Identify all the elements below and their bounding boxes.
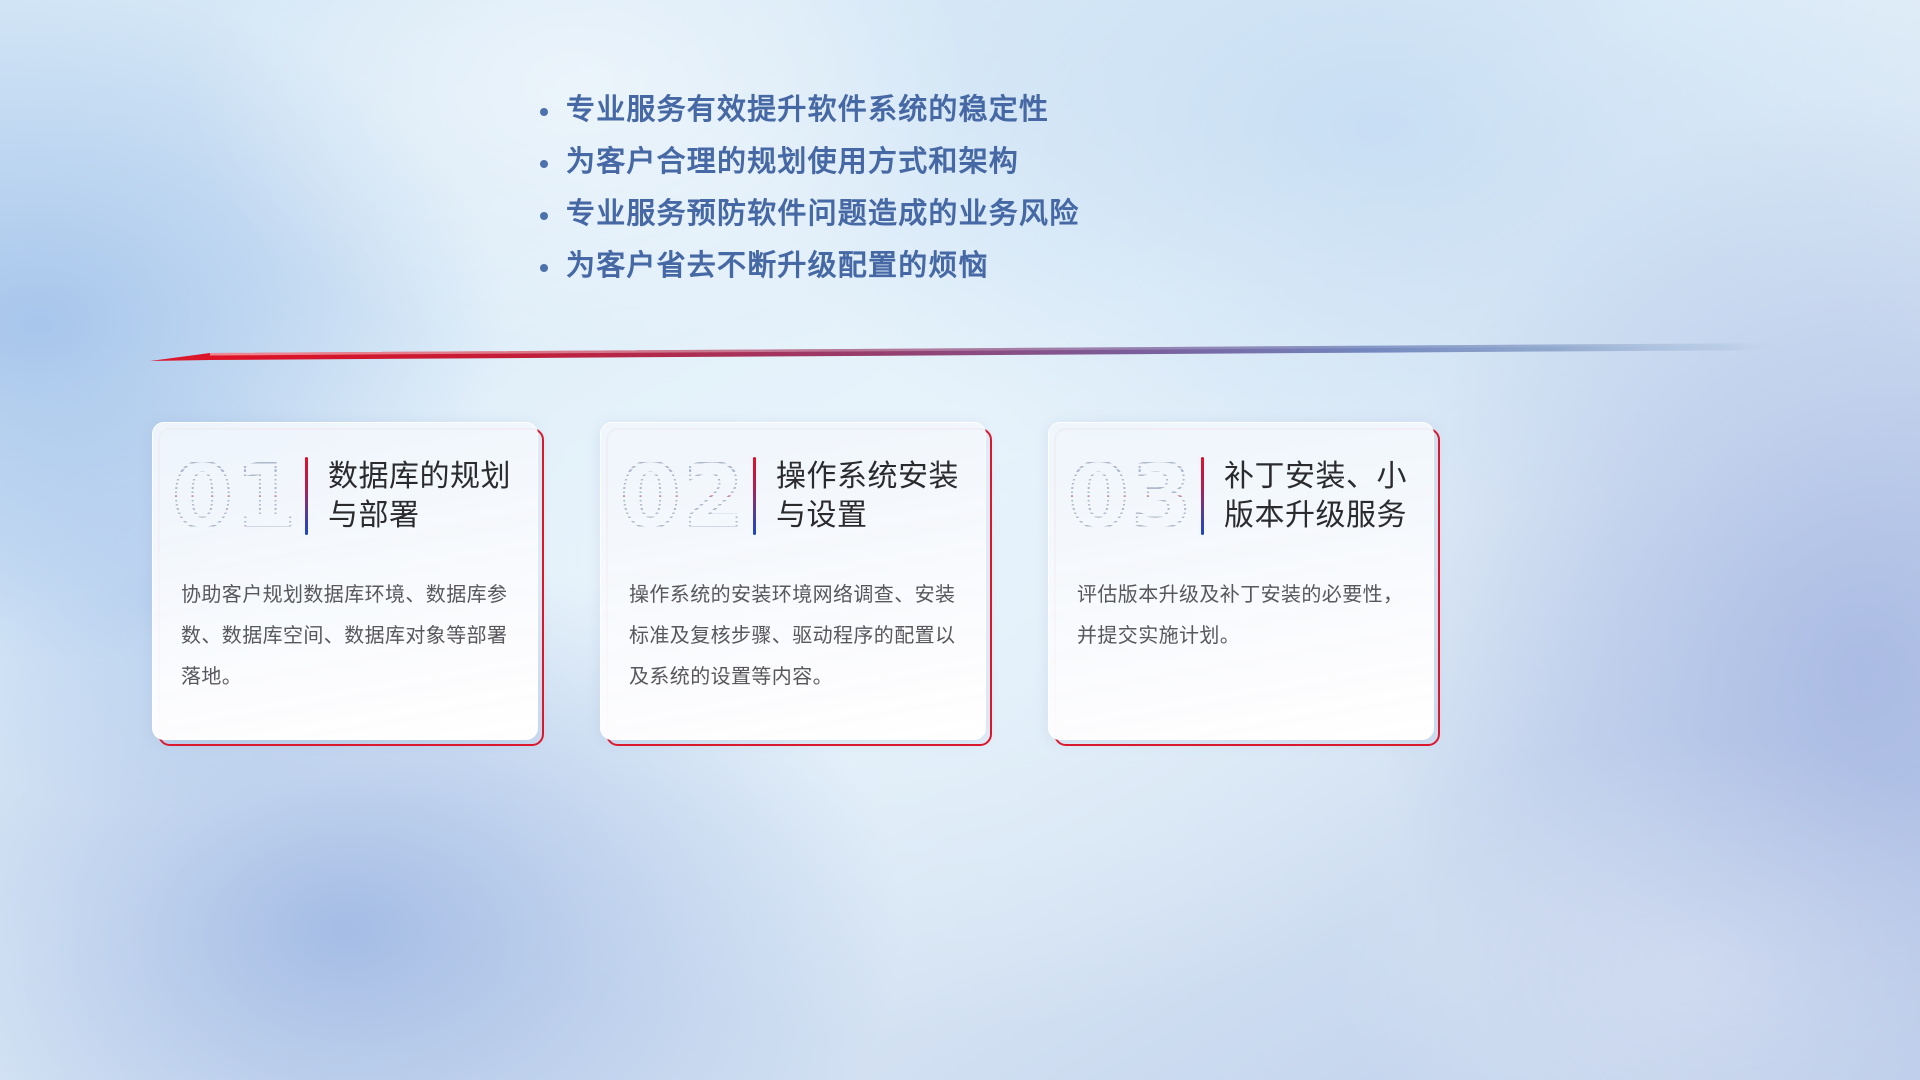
card-number-watermark: 03 03 03 — [1063, 441, 1199, 551]
card-title: 操作系统安装与设置 — [776, 457, 986, 535]
bullet-dot-icon — [540, 97, 566, 121]
card-accent-bar — [1201, 457, 1204, 535]
bullet-dot-icon — [540, 149, 566, 173]
bullet-text: 专业服务有效提升软件系统的稳定性 — [566, 86, 1049, 128]
list-item: 为客户省去不断升级配置的烦恼 — [540, 242, 1079, 294]
service-card-row: 01 01 01 数据库的规划与部署 协助客户规划数据库环境、数据库参数、数据库… — [152, 422, 1434, 740]
card-number-blue-stripes: 02 — [615, 441, 751, 551]
list-item: 专业服务预防软件问题造成的业务风险 — [540, 190, 1079, 242]
card-accent-bar — [305, 457, 308, 535]
card-number-watermark: 02 02 02 — [615, 441, 751, 551]
card-number-blue-stripes: 01 — [167, 441, 303, 551]
slide-canvas: 专业服务有效提升软件系统的稳定性 为客户合理的规划使用方式和架构 专业服务预防软… — [0, 0, 1920, 1080]
card-panel: 03 03 03 补丁安装、小版本升级服务 评估版本升级及补丁安装的必要性，并提… — [1048, 422, 1434, 740]
card-panel: 01 01 01 数据库的规划与部署 协助客户规划数据库环境、数据库参数、数据库… — [152, 422, 538, 740]
bullet-text: 专业服务预防软件问题造成的业务风险 — [566, 190, 1079, 232]
card-header: 01 01 01 数据库的规划与部署 — [153, 437, 538, 555]
card-title: 数据库的规划与部署 — [328, 457, 538, 535]
bullet-text: 为客户合理的规划使用方式和架构 — [566, 138, 1019, 180]
service-card[interactable]: 01 01 01 数据库的规划与部署 协助客户规划数据库环境、数据库参数、数据库… — [152, 422, 538, 740]
card-description: 操作系统的安装环境网络调查、安装标准及复核步骤、驱动程序的配置以及系统的设置等内… — [629, 575, 965, 698]
card-header: 03 03 03 补丁安装、小版本升级服务 — [1049, 437, 1434, 555]
card-panel: 02 02 02 操作系统安装与设置 操作系统的安装环境网络调查、安装标准及复核… — [600, 422, 986, 740]
list-item: 专业服务有效提升软件系统的稳定性 — [540, 86, 1079, 138]
bullet-dot-icon — [540, 253, 566, 277]
card-number-blue-stripes: 03 — [1063, 441, 1199, 551]
card-header: 02 02 02 操作系统安装与设置 — [601, 437, 986, 555]
card-title: 补丁安装、小版本升级服务 — [1224, 457, 1434, 535]
benefit-bullet-list: 专业服务有效提升软件系统的稳定性 为客户合理的规划使用方式和架构 专业服务预防软… — [540, 86, 1079, 294]
card-number-watermark: 01 01 01 — [167, 441, 303, 551]
list-item: 为客户合理的规划使用方式和架构 — [540, 138, 1079, 190]
card-description: 协助客户规划数据库环境、数据库参数、数据库空间、数据库对象等部署落地。 — [181, 575, 517, 698]
bullet-dot-icon — [540, 201, 566, 225]
card-description: 评估版本升级及补丁安装的必要性，并提交实施计划。 — [1077, 575, 1413, 657]
bullet-text: 为客户省去不断升级配置的烦恼 — [566, 242, 989, 284]
service-card[interactable]: 02 02 02 操作系统安装与设置 操作系统的安装环境网络调查、安装标准及复核… — [600, 422, 986, 740]
service-card[interactable]: 03 03 03 补丁安装、小版本升级服务 评估版本升级及补丁安装的必要性，并提… — [1048, 422, 1434, 740]
card-accent-bar — [753, 457, 756, 535]
gradient-wedge-divider — [150, 336, 1790, 368]
